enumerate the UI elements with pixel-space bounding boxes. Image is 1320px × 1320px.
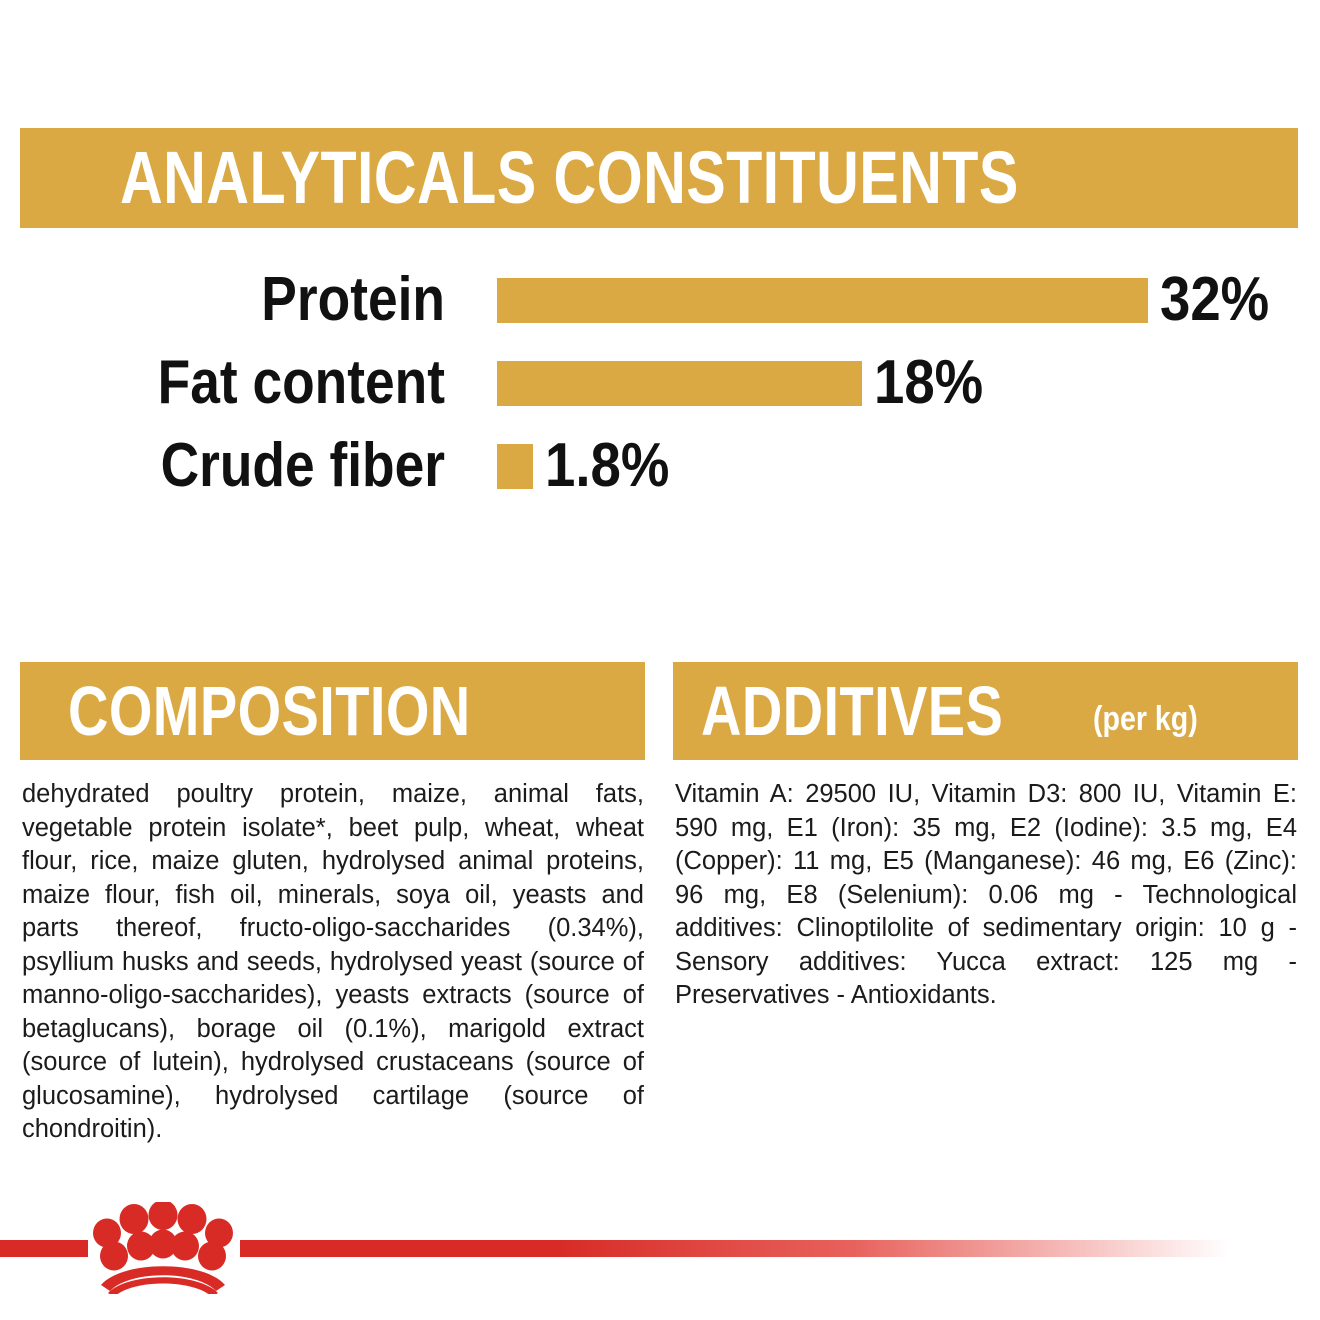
additives-per-kg-label: (per kg) [1093,702,1198,736]
bar-value-fat-content: 18% [874,352,983,414]
footer-rule-left [0,1240,88,1257]
bar-label-protein: Protein [62,269,445,331]
bar-fill-crude-fiber [497,444,533,489]
royal-canin-crown-icon [92,1202,234,1294]
bar-label-fat-content: Fat content [62,352,445,414]
analyticals-bar-chart: Protein 32% Fat content 18% Crude fiber … [0,262,1320,512]
bar-row-protein: Protein 32% [0,262,1320,338]
analyticals-constituents-title: ANALYTICALS CONSTITUENTS [120,141,1019,215]
composition-body-text: dehydrated poultry protein, maize, anima… [22,778,644,1147]
additives-body-text: Vitamin A: 29500 IU, Vitamin D3: 800 IU,… [675,778,1297,1013]
composition-title: COMPOSITION [68,676,471,746]
composition-header: COMPOSITION [20,662,645,760]
bar-track-fat-content: 18% [497,345,1320,421]
bar-row-fat-content: Fat content 18% [0,345,1320,421]
bar-track-protein: 32% [497,262,1320,338]
footer-rule-right [240,1240,1230,1257]
bar-label-crude-fiber: Crude fiber [62,435,445,497]
bar-row-crude-fiber: Crude fiber 1.8% [0,428,1320,504]
analyticals-constituents-header: ANALYTICALS CONSTITUENTS [20,128,1298,228]
bar-track-crude-fiber: 1.8% [497,428,1320,504]
footer [0,1196,1320,1320]
bar-value-crude-fiber: 1.8% [545,435,669,497]
bar-fill-fat-content [497,361,862,406]
additives-title: ADDITIVES [701,676,1003,746]
bar-value-protein: 32% [1160,269,1269,331]
additives-header: ADDITIVES (per kg) [673,662,1298,760]
bar-fill-protein [497,278,1148,323]
